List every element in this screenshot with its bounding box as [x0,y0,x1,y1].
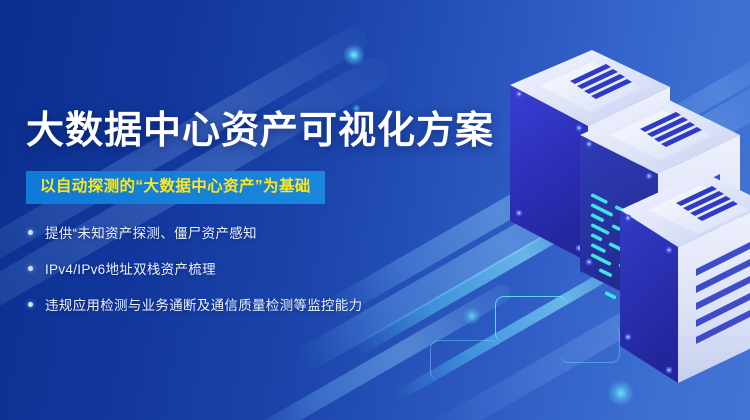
list-item: 提供“未知资产探测、僵尸资产感知 [26,222,446,242]
list-item: IPv4/IPv6地址双栈资产梳理 [26,258,446,278]
bullet-text: 提供“未知资产探测、僵尸资产感知 [45,222,257,242]
bullet-dot-icon [28,266,33,271]
bullet-dot-icon [28,302,33,307]
subtitle-highlight-bar: 以自动探测的“大数据中心资产”为基础 [26,171,325,204]
list-item: 违规应用检测与业务通断及通信质量检测等监控能力 [26,294,446,314]
server-racks-illustration [420,50,750,420]
subtitle-text: 以自动探测的“大数据中心资产”为基础 [40,178,311,195]
server-rack-3 [620,172,750,383]
bullet-dot-icon [28,230,33,235]
glow-particle [343,44,365,66]
page-title: 大数据中心资产可视化方案 [26,112,446,150]
data-center-banner: 大数据中心资产可视化方案 以自动探测的“大数据中心资产”为基础 提供“未知资产探… [0,0,750,420]
bullet-text: IPv4/IPv6地址双栈资产梳理 [45,258,216,278]
text-content: 大数据中心资产可视化方案 以自动探测的“大数据中心资产”为基础 提供“未知资产探… [26,112,446,330]
bullet-text: 违规应用检测与业务通断及通信质量检测等监控能力 [45,294,362,314]
feature-bullet-list: 提供“未知资产探测、僵尸资产感知 IPv4/IPv6地址双栈资产梳理 违规应用检… [26,222,446,314]
